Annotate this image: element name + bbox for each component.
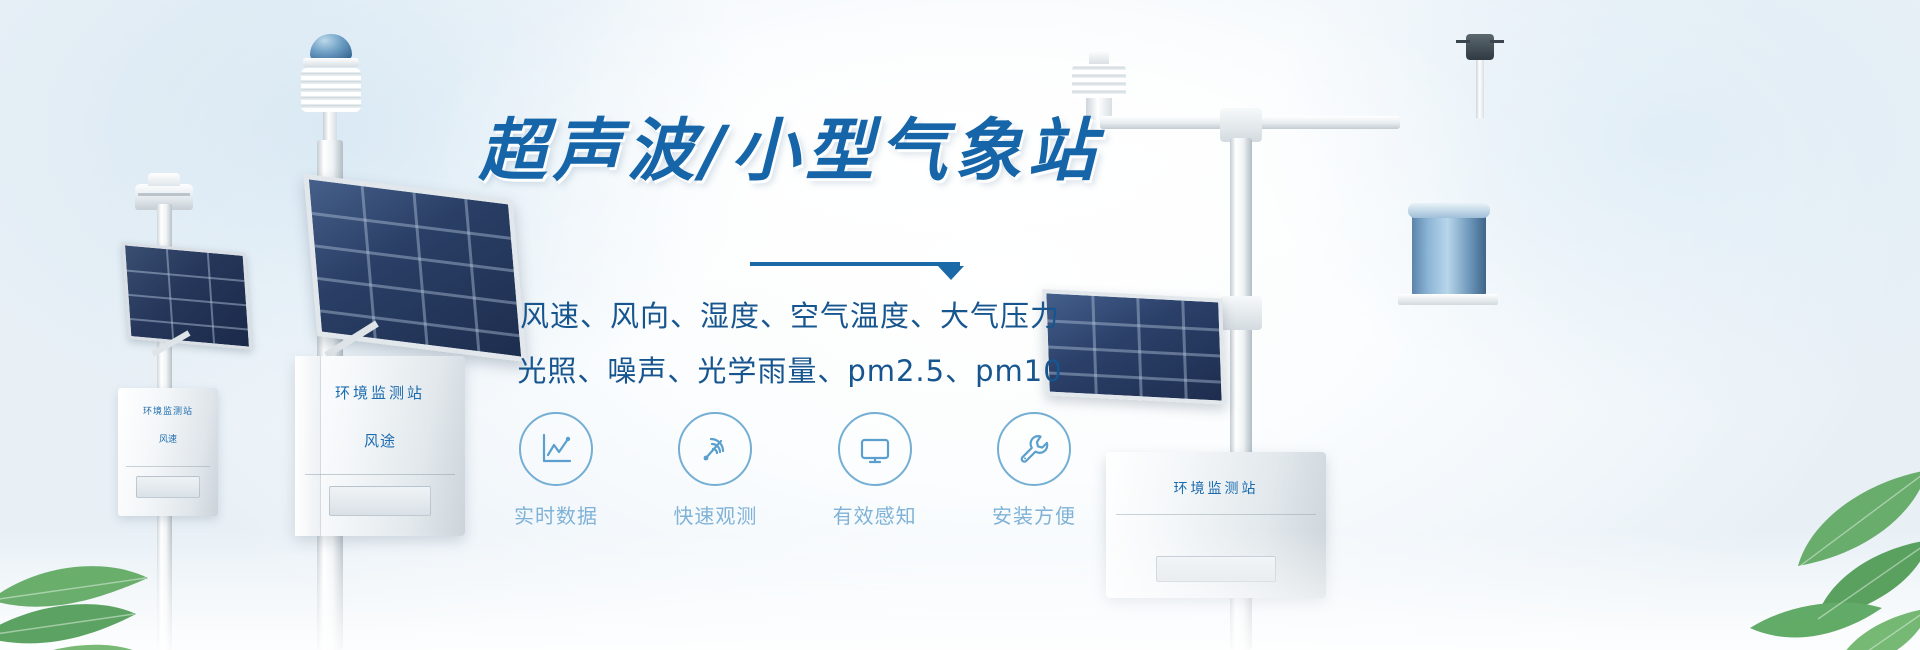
cabinet-vent: [329, 486, 431, 516]
feature-item-realtime-data[interactable]: 实时数据: [495, 412, 617, 529]
ultrasonic-weather-station-mast: 环境监测站: [1080, 50, 1500, 650]
feature-item-effective-sensing[interactable]: 有效感知: [814, 412, 936, 529]
cabinet-seam: [126, 466, 210, 467]
mast-collar-upper: [1220, 108, 1262, 142]
vane-post: [1476, 56, 1484, 118]
feature-item-fast-observation[interactable]: 快速观测: [654, 412, 776, 529]
station-cabinet: 环境监测站 风速: [118, 388, 218, 516]
cabinet-brand-logo: 风途: [295, 430, 465, 451]
feature-list: 实时数据 快速观测: [495, 412, 1095, 529]
optical-rain-gauge-icon: [1412, 210, 1486, 296]
gauge-mounting-shelf: [1398, 294, 1498, 305]
subtitle-line-2: 光照、噪声、光学雨量、pm2.5、pm10: [450, 348, 1130, 390]
sensor-cap: [303, 58, 359, 67]
product-banner: 环境监测站 风速 环境监测站 风途: [0, 0, 1920, 650]
station-cabinet: 环境监测站: [1106, 452, 1326, 598]
cabinet-seam: [1116, 514, 1316, 515]
decorative-leaf-right: [1630, 390, 1920, 650]
cabinet-label: 环境监测站: [1106, 478, 1326, 498]
environment-monitoring-station-small: 环境监测站 风速: [95, 170, 280, 650]
cabinet-seam: [305, 474, 455, 475]
cabinet-label: 环境监测站: [295, 382, 465, 403]
feature-label: 快速观测: [654, 500, 776, 529]
wrench-icon: [997, 412, 1071, 486]
feature-label: 有效感知: [814, 500, 936, 529]
feature-label: 安装方便: [973, 500, 1095, 529]
cabinet-vent: [136, 476, 200, 498]
station-cabinet: 环境监测站 风途: [295, 356, 465, 536]
line-chart-icon: [519, 412, 593, 486]
mast-collar-lower: [1220, 296, 1262, 330]
radiation-shield: [301, 68, 361, 112]
ultrasonic-dome-sensor-icon: [310, 34, 352, 60]
page-title: 超声波/小型气象站: [450, 118, 1130, 186]
wind-vane-sensor-icon: [1466, 34, 1494, 60]
monitor-screen-icon: [838, 412, 912, 486]
feature-label: 实时数据: [495, 500, 617, 529]
banner-text-block: 超声波/小型气象站 风速、风向、湿度、空气温度、大气压力 光照、噪声、光学雨量、…: [450, 0, 1130, 650]
title-divider: [750, 262, 960, 266]
signal-wave-icon: [678, 412, 752, 486]
subtitle-line-1: 风速、风向、湿度、空气温度、大气压力: [450, 293, 1130, 335]
feature-item-easy-installation[interactable]: 安装方便: [973, 412, 1095, 529]
cabinet-brand-logo: 风速: [118, 432, 218, 445]
cabinet-label: 环境监测站: [118, 404, 218, 417]
cabinet-vent: [1156, 556, 1276, 582]
